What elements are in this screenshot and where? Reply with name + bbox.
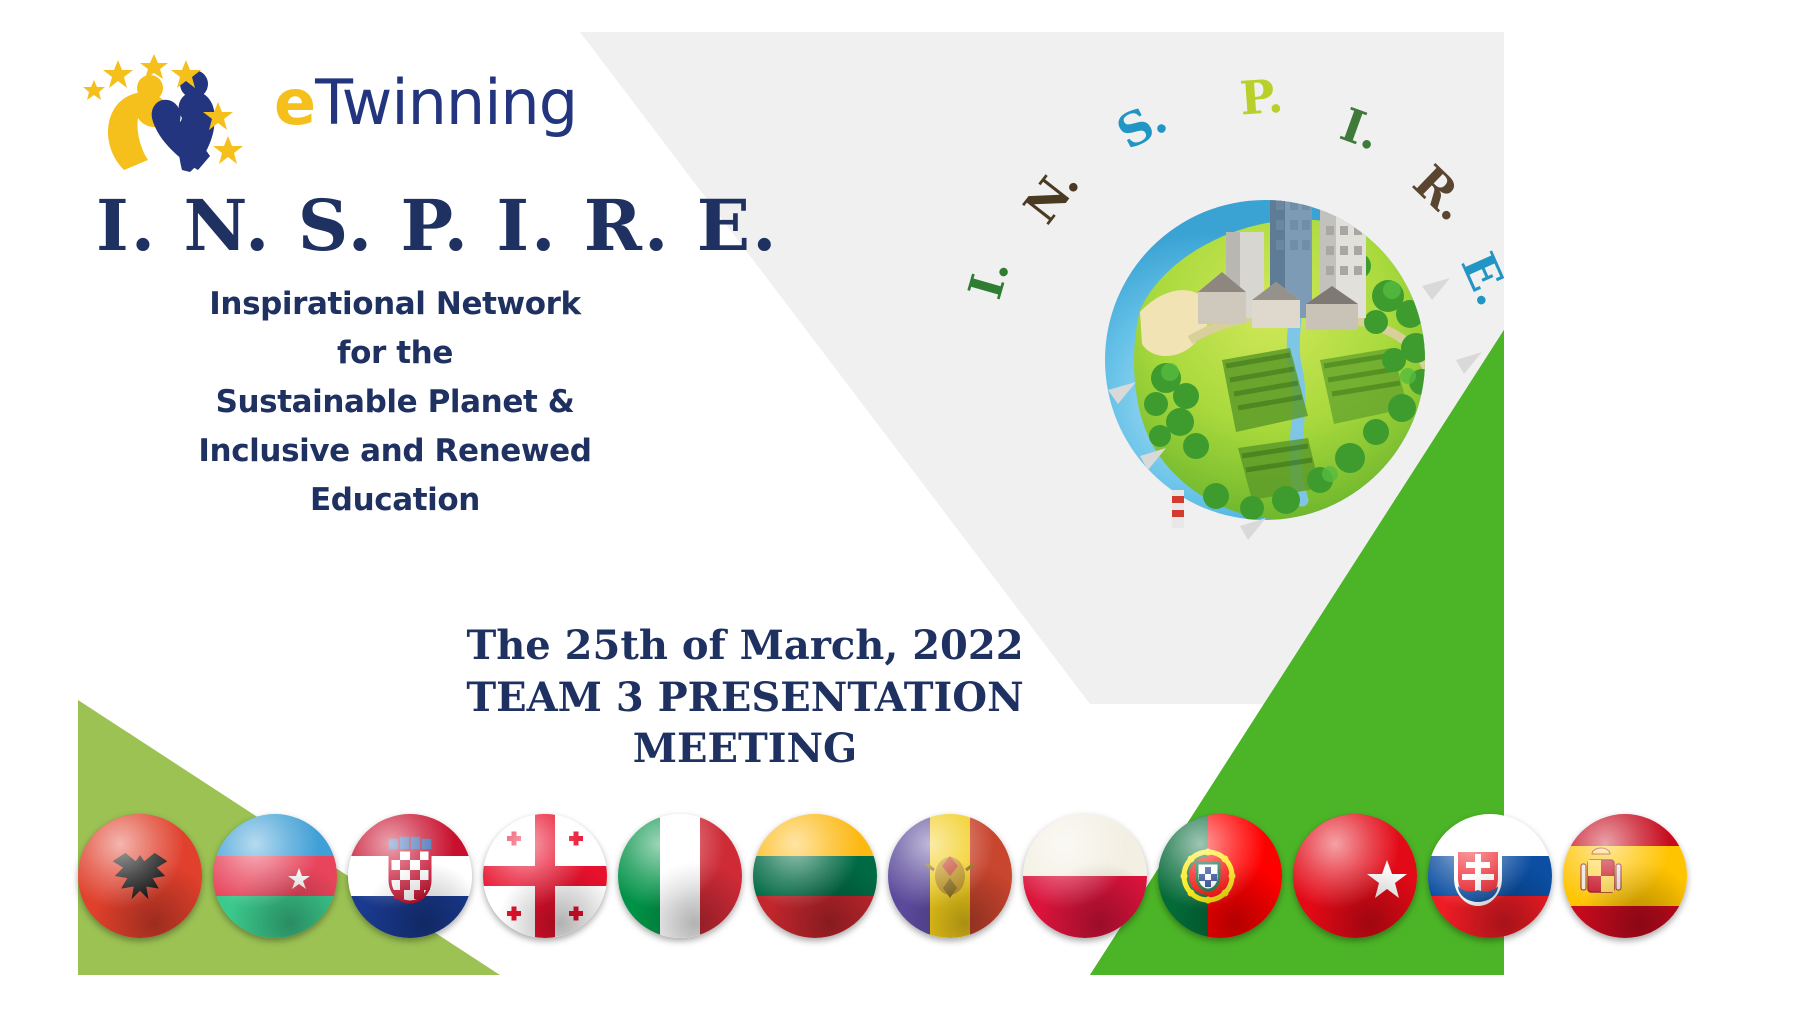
presentation-slide: eTwinning I. N. S. P. I. R. E. Inspirati… xyxy=(0,0,1800,1012)
flag-gloss xyxy=(213,814,337,938)
flag-gloss xyxy=(1428,814,1552,938)
globe-letter-r: R. xyxy=(1406,158,1477,229)
flag-gloss xyxy=(483,814,607,938)
globe-letter-p: P. xyxy=(1238,73,1284,122)
etwinning-wordmark: eTwinning xyxy=(274,72,577,134)
inspire-arched-letters: I. N. S. P. I. R. E. xyxy=(990,60,1550,560)
meeting-title-line-1: TEAM 3 PRESENTATION xyxy=(430,672,1060,724)
globe-letter-s: S. xyxy=(1110,94,1174,157)
etwinning-twinning: Twinning xyxy=(315,66,577,139)
subtitle-line-4: Inclusive and Renewed xyxy=(90,427,700,476)
globe-letter-i1: I. xyxy=(961,255,1016,304)
flag-albania xyxy=(78,814,202,938)
subtitle-line-2: for the xyxy=(90,329,700,378)
flag-turkey xyxy=(1293,814,1417,938)
flag-gloss xyxy=(1158,814,1282,938)
flag-portugal xyxy=(1158,814,1282,938)
flag-gloss xyxy=(78,814,202,938)
etwinning-people-stars-icon xyxy=(78,52,263,177)
etwinning-e: e xyxy=(274,66,315,139)
flag-spain xyxy=(1563,814,1687,938)
page-title-acronym: I. N. S. P. I. R. E. xyxy=(96,190,796,261)
globe-letter-n: N. xyxy=(1016,159,1086,231)
participating-country-flags xyxy=(78,806,1728,946)
flag-gloss xyxy=(888,814,1012,938)
globe-letter-e: E. xyxy=(1454,246,1517,311)
subtitle-line-3: Sustainable Planet & xyxy=(90,378,700,427)
subtitle-line-1: Inspirational Network xyxy=(90,280,700,329)
etwinning-logo: eTwinning xyxy=(78,52,598,177)
flag-moldova xyxy=(888,814,1012,938)
meeting-info: The 25th of March, 2022 TEAM 3 PRESENTAT… xyxy=(430,620,1060,775)
flag-georgia xyxy=(483,814,607,938)
subtitle-line-5: Education xyxy=(90,476,700,525)
inspire-globe-graphic: I. N. S. P. I. R. E. xyxy=(990,60,1550,560)
meeting-date: The 25th of March, 2022 xyxy=(430,620,1060,672)
flag-gloss xyxy=(1563,814,1687,938)
flag-gloss xyxy=(348,814,472,938)
flag-croatia xyxy=(348,814,472,938)
globe-letter-i2: I. xyxy=(1335,101,1386,157)
flag-italy xyxy=(618,814,742,938)
project-subtitle: Inspirational Network for the Sustainabl… xyxy=(90,280,700,525)
flag-azerbaijan xyxy=(213,814,337,938)
flag-poland xyxy=(1023,814,1147,938)
flag-gloss xyxy=(753,814,877,938)
meeting-title-line-2: MEETING xyxy=(430,723,1060,775)
flag-gloss xyxy=(618,814,742,938)
flag-gloss xyxy=(1293,814,1417,938)
flag-lithuania xyxy=(753,814,877,938)
flag-slovakia xyxy=(1428,814,1552,938)
flag-gloss xyxy=(1023,814,1147,938)
